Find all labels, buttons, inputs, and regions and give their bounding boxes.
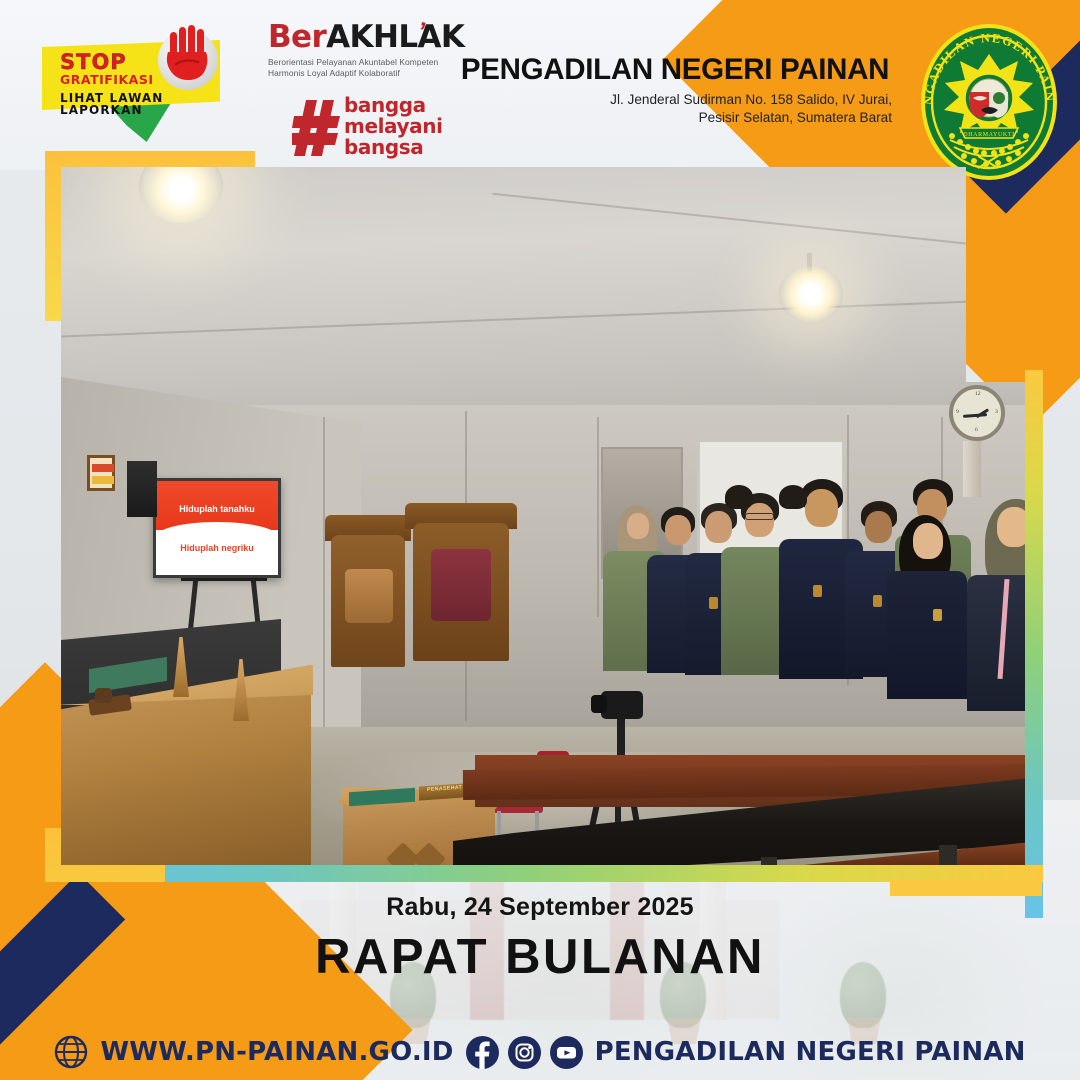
person-hair bbox=[779, 485, 807, 509]
photo-wall-picture bbox=[87, 455, 115, 491]
photo-gavel bbox=[95, 688, 112, 703]
photo-wall-clock: 12 3 6 9 bbox=[949, 385, 1005, 441]
photo-camera-lens bbox=[591, 695, 607, 713]
banner-line-2: GRATIFIKASI bbox=[60, 74, 153, 87]
youtube-icon[interactable] bbox=[550, 1036, 583, 1069]
clock-hand-minute bbox=[963, 413, 987, 417]
instagram-icon[interactable] bbox=[508, 1036, 541, 1069]
court-seal-logo: PENGADILAN NEGERI PAINAN DHARMAYUKTI bbox=[910, 16, 1068, 188]
photo-judge-chair-cushion bbox=[431, 549, 491, 621]
bangga-line-1: bangga bbox=[344, 95, 443, 116]
institution-title-block: PENGADILAN NEGERI PAINAN Jl. Jenderal Su… bbox=[440, 55, 910, 127]
berakhlak-tagline-line-1: Berorientasi Pelayanan Akuntabel Kompete… bbox=[268, 57, 448, 68]
social-handle: PENGADILAN NEGERI PAINAN bbox=[595, 1037, 1026, 1067]
person-face bbox=[865, 511, 892, 543]
photo-speaker bbox=[127, 461, 157, 517]
event-date: Rabu, 24 September 2025 bbox=[0, 893, 1080, 922]
poster-header: STOP GRATIFIKASI LIHAT LAWAN LAPORKAN Be… bbox=[0, 0, 1080, 175]
berakhlak-prefix: Ber bbox=[268, 19, 326, 55]
website-url[interactable]: WWW.PN-PAINAN.GO.ID bbox=[100, 1037, 453, 1067]
person-face bbox=[997, 507, 1025, 547]
person-badge bbox=[873, 595, 882, 607]
globe-icon bbox=[54, 1035, 88, 1069]
poster-footer: WWW.PN-PAINAN.GO.ID PENGADILAN NEGERI PA… bbox=[0, 1024, 1080, 1080]
page-title: PENGADILAN NEGERI PAINAN bbox=[440, 55, 910, 86]
event-photo: Hiduplah tanahku Hiduplah negriku PENASE… bbox=[61, 167, 1025, 865]
address-line-2: Pesisir Selatan, Sumatera Barat bbox=[440, 109, 892, 127]
bangga-lines: bangga melayani bangsa bbox=[344, 95, 443, 157]
person-face bbox=[627, 513, 649, 539]
photo-ceiling-lamp bbox=[779, 265, 843, 323]
facebook-icon[interactable] bbox=[466, 1036, 499, 1069]
event-title: RAPAT BULANAN bbox=[0, 929, 1080, 985]
svg-text:DHARMAYUKTI: DHARMAYUKTI bbox=[963, 132, 1014, 138]
bangga-line-3: bangsa bbox=[344, 137, 443, 158]
banner-line-1: STOP bbox=[60, 52, 127, 73]
berakhlak-tagline: Berorientasi Pelayanan Akuntabel Kompete… bbox=[268, 57, 448, 79]
person-face bbox=[665, 515, 691, 545]
bangga-line-2: melayani bbox=[344, 116, 443, 137]
red-hand-icon bbox=[164, 24, 216, 86]
hashtag-icon bbox=[292, 100, 342, 156]
photo-bench-leg bbox=[939, 845, 957, 865]
bangga-melayani-bangsa-logo: bangga melayani bangsa bbox=[292, 96, 462, 162]
photo-projector-screen: Hiduplah tanahku Hiduplah negriku bbox=[153, 478, 281, 578]
photo-frame-gradient-right bbox=[1025, 370, 1043, 918]
person-badge bbox=[933, 609, 942, 621]
person-face bbox=[745, 503, 774, 537]
clock-number: 3 bbox=[995, 409, 998, 415]
clock-number: 6 bbox=[975, 427, 978, 433]
person-uniform bbox=[887, 571, 967, 699]
screen-lyric-line-2: Hiduplah negriku bbox=[156, 543, 278, 553]
person-badge bbox=[709, 597, 718, 609]
photo-clock-post bbox=[963, 441, 981, 497]
anti-gratuity-banner: STOP GRATIFIKASI LIHAT LAWAN LAPORKAN bbox=[42, 26, 222, 138]
berakhlak-tagline-line-2: Harmonis Loyal Adaptif Kolaboratif bbox=[268, 68, 448, 79]
person-uniform bbox=[967, 575, 1025, 711]
photo-bench-leg bbox=[761, 857, 777, 865]
person-face bbox=[805, 489, 838, 527]
social-icons bbox=[466, 1036, 583, 1069]
screen-lyric-line-1: Hiduplah tanahku bbox=[156, 504, 278, 514]
poster-canvas: STOP GRATIFIKASI LIHAT LAWAN LAPORKAN Be… bbox=[0, 0, 1080, 1080]
person-hair bbox=[725, 485, 753, 509]
person-face bbox=[705, 511, 732, 543]
banner-line-3: LIHAT LAWAN LAPORKAN bbox=[60, 92, 222, 116]
institution-address: Jl. Jenderal Sudirman No. 158 Salido, IV… bbox=[440, 91, 910, 127]
photo-wall-seam bbox=[323, 417, 325, 747]
clock-number: 9 bbox=[956, 409, 959, 415]
berakhlak-logo: BerAKHLAK ’ Berorientasi Pelayanan Akunt… bbox=[268, 22, 448, 92]
photo-judge-chair-cushion bbox=[345, 569, 393, 623]
photo-camera bbox=[601, 691, 643, 719]
person-face bbox=[913, 523, 943, 559]
clock-number: 12 bbox=[975, 391, 981, 397]
person-glasses-icon bbox=[745, 513, 774, 520]
address-line-1: Jl. Jenderal Sudirman No. 158 Salido, IV… bbox=[440, 91, 892, 109]
photo-wall-seam bbox=[597, 417, 599, 617]
berakhlak-main: AKHLAK bbox=[326, 19, 464, 55]
person-badge bbox=[813, 585, 822, 597]
